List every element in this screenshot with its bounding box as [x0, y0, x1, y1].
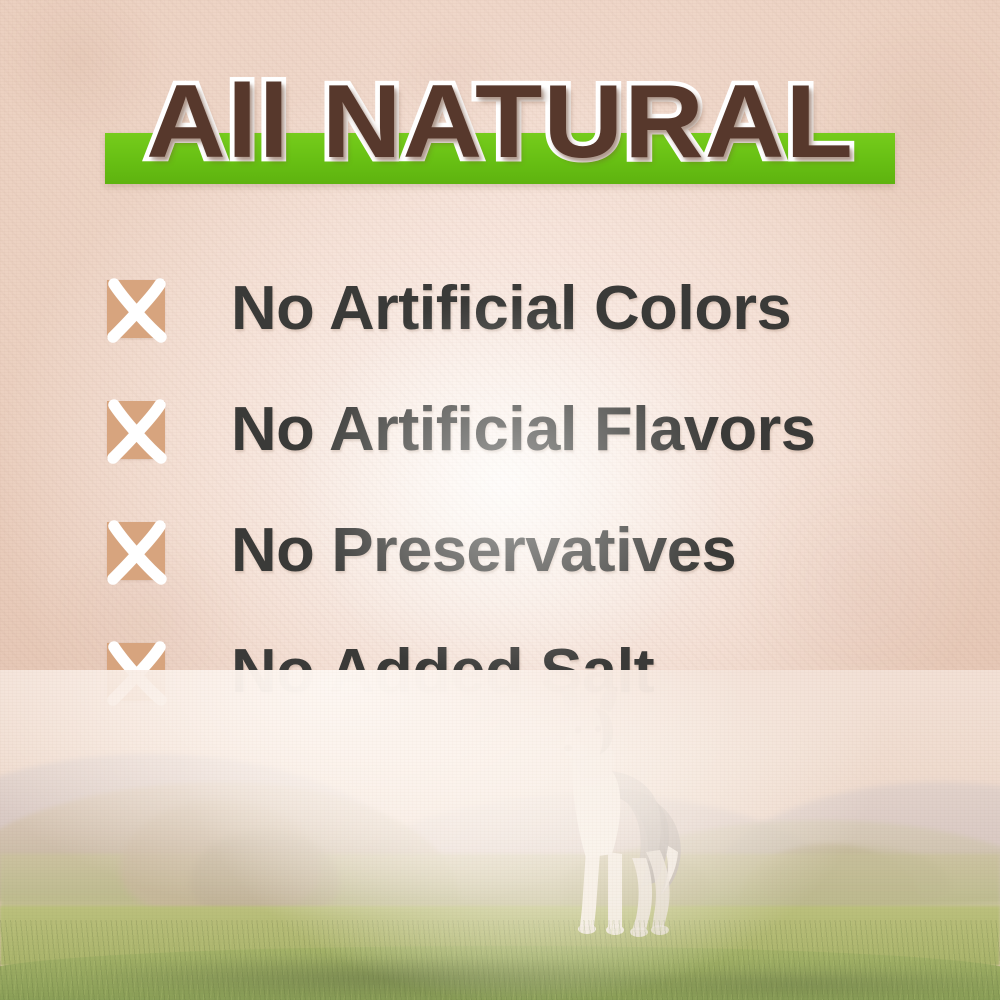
claim-row: No Artificial Colors	[0, 248, 1000, 369]
claim-row: No Preservatives	[0, 490, 1000, 611]
product-feature-poster: All NATURAL No Artificial Colors No Arti…	[0, 0, 1000, 1000]
border-collie-dog	[520, 682, 720, 950]
claim-label: No Artificial Flavors	[231, 399, 815, 461]
x-mark-icon	[107, 280, 165, 338]
claim-label: No Preservatives	[231, 520, 736, 582]
header-banner: All NATURAL	[0, 70, 1000, 195]
claims-list: No Artificial Colors No Artificial Flavo…	[0, 248, 1000, 732]
claim-label: No Artificial Colors	[231, 278, 791, 340]
meadow-photo	[0, 670, 1000, 1000]
page-title: All NATURAL	[0, 70, 1000, 174]
x-mark-icon	[107, 522, 165, 580]
x-mark-icon	[107, 401, 165, 459]
claim-row: No Artificial Flavors	[0, 369, 1000, 490]
grass-shadow	[0, 956, 1000, 1000]
